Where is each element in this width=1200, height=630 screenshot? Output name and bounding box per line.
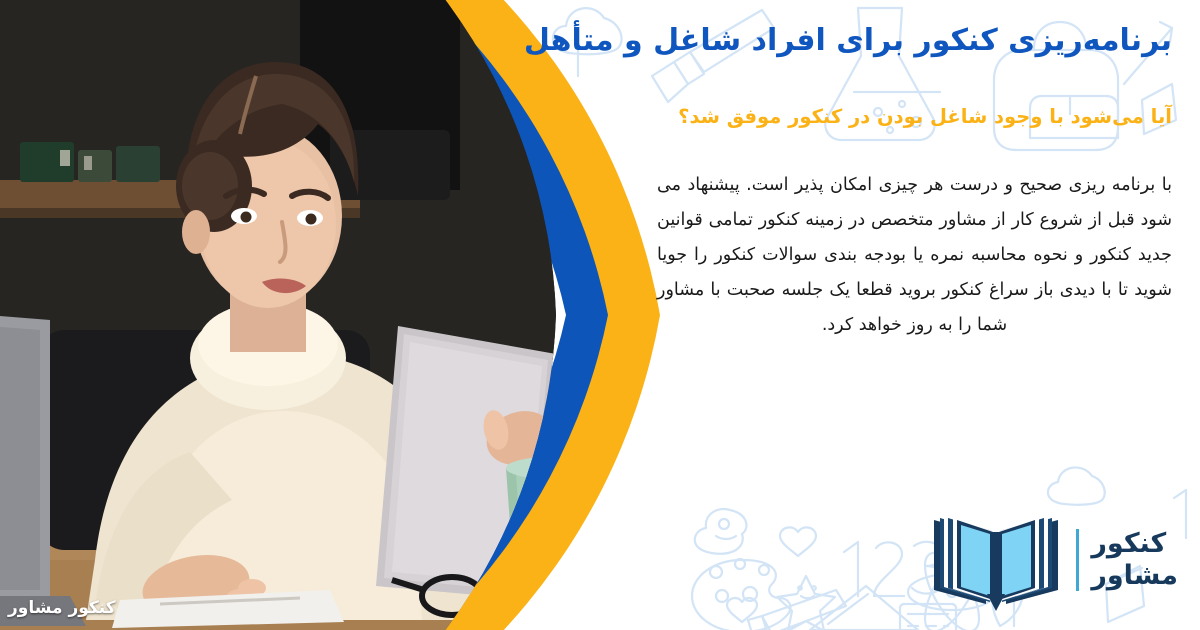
number-123-icon [844, 542, 944, 596]
open-book-icon [930, 508, 1062, 612]
cloud-icon [1048, 467, 1105, 504]
left-arc-composition: کنکور مشاور [0, 0, 740, 630]
body-paragraph: با برنامه ریزی صحیح و درست هر چیزی امکان… [657, 168, 1172, 343]
brand-logo[interactable]: کنکور مشاور [930, 508, 1178, 612]
brand-logo-text: کنکور مشاور [1076, 529, 1178, 591]
poster-canvas: کنکور مشاور برنامه‌ریزی کنکور برای افراد… [0, 0, 1200, 630]
brand-logo-line2: مشاور [1091, 561, 1178, 591]
page-title: برنامه‌ریزی کنکور برای افراد شاغل و متأه… [552, 22, 1172, 60]
heart-icon [780, 527, 816, 556]
star-icon [777, 576, 835, 630]
pen-icon [748, 590, 846, 630]
subtitle-question: آیا می‌شود با وجود شاغل بودن در کنکور مو… [552, 104, 1172, 129]
brand-logo-line1: کنکور [1091, 529, 1166, 559]
photo-watermark: کنکور مشاور [8, 598, 116, 618]
triangle-ruler-icon [810, 586, 918, 630]
